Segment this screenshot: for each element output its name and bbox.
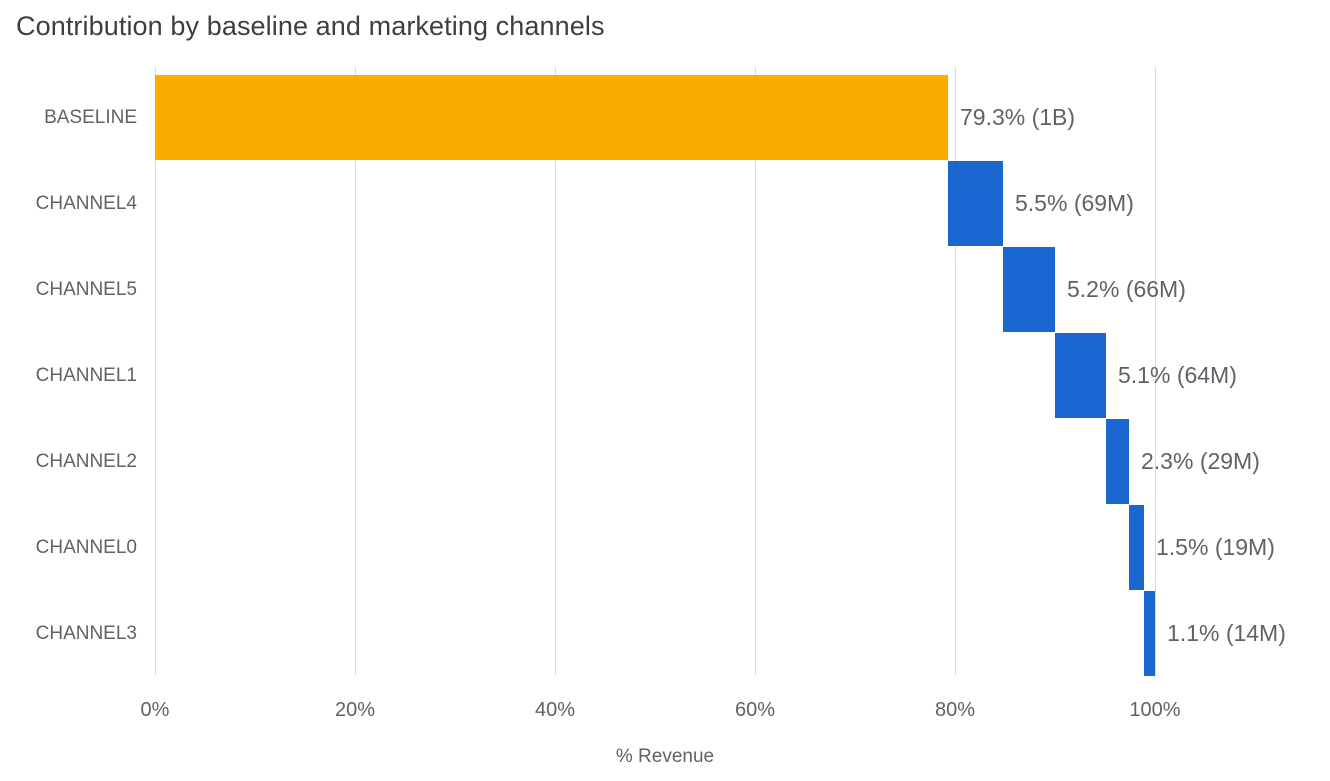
y-axis-label-channel2: CHANNEL2 (36, 452, 137, 471)
bar-channel0[interactable] (1129, 505, 1144, 590)
x-tick-0%: 0% (141, 700, 170, 720)
value-label-channel1: 5.1% (64M) (1118, 364, 1237, 387)
gridline-80% (955, 67, 956, 675)
y-axis-label-channel3: CHANNEL3 (36, 624, 137, 643)
value-label-channel3: 1.1% (14M) (1167, 622, 1286, 645)
value-label-channel4: 5.5% (69M) (1015, 192, 1134, 215)
y-axis-label-channel1: CHANNEL1 (36, 366, 137, 385)
bar-channel4[interactable] (948, 161, 1003, 246)
value-label-channel0: 1.5% (19M) (1156, 536, 1275, 559)
x-tick-40%: 40% (535, 700, 575, 720)
x-tick-80%: 80% (935, 700, 975, 720)
y-axis-label-channel4: CHANNEL4 (36, 194, 137, 213)
x-axis-title: % Revenue (0, 747, 1330, 766)
bar-channel3[interactable] (1144, 591, 1155, 676)
bar-channel1[interactable] (1055, 333, 1106, 418)
x-tick-100%: 100% (1129, 700, 1180, 720)
bar-baseline[interactable] (155, 75, 948, 160)
y-axis-label-channel0: CHANNEL0 (36, 538, 137, 557)
waterfall-chart: Contribution by baseline and marketing c… (0, 0, 1330, 781)
plot-area (155, 67, 1155, 675)
bar-channel2[interactable] (1106, 419, 1129, 504)
x-tick-60%: 60% (735, 700, 775, 720)
bar-channel5[interactable] (1003, 247, 1055, 332)
value-label-channel5: 5.2% (66M) (1067, 278, 1186, 301)
chart-title: Contribution by baseline and marketing c… (16, 11, 605, 42)
x-tick-20%: 20% (335, 700, 375, 720)
y-axis-label-baseline: BASELINE (44, 108, 137, 127)
value-label-baseline: 79.3% (1B) (960, 106, 1075, 129)
y-axis-label-channel5: CHANNEL5 (36, 280, 137, 299)
value-label-channel2: 2.3% (29M) (1141, 450, 1260, 473)
